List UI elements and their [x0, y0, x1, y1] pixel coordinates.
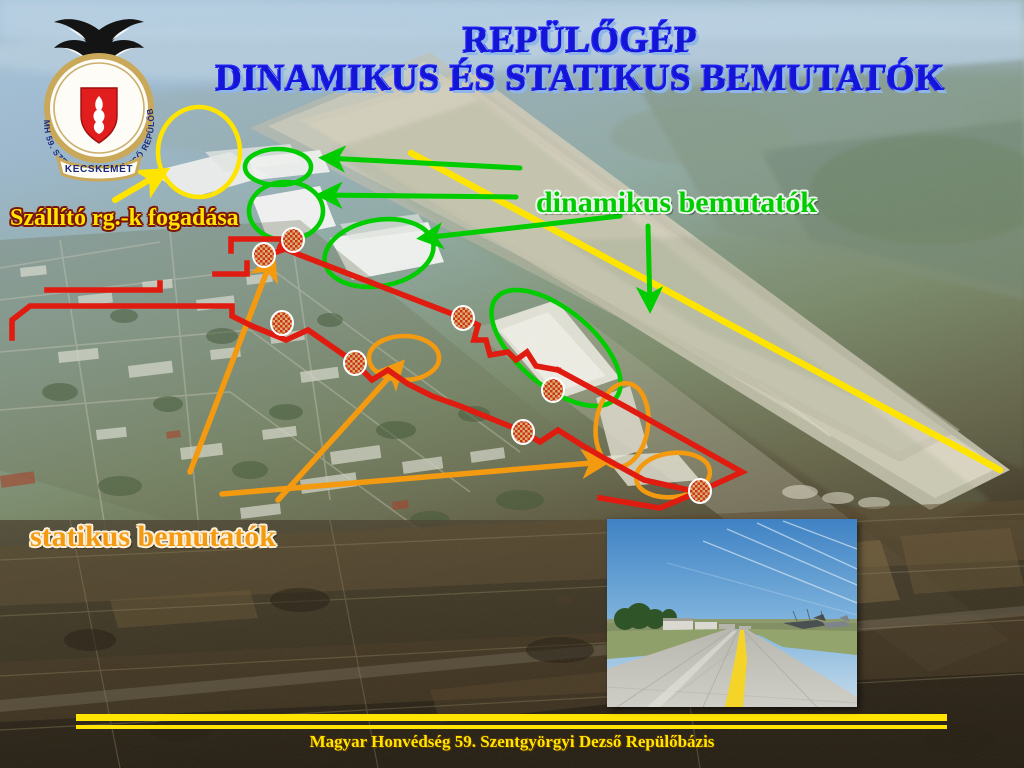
taxiway-ground-view-photo [607, 519, 857, 707]
presentation-slide: MH 59. SZENTGYÖRGYI DEZSŐ REPÜLŐBÁZIS KE… [0, 0, 1024, 768]
emblem-banner-text: KECSKEMÉT [65, 162, 133, 175]
airbase-emblem: MH 59. SZENTGYÖRGYI DEZSŐ REPÜLŐBÁZIS KE… [24, 12, 174, 190]
